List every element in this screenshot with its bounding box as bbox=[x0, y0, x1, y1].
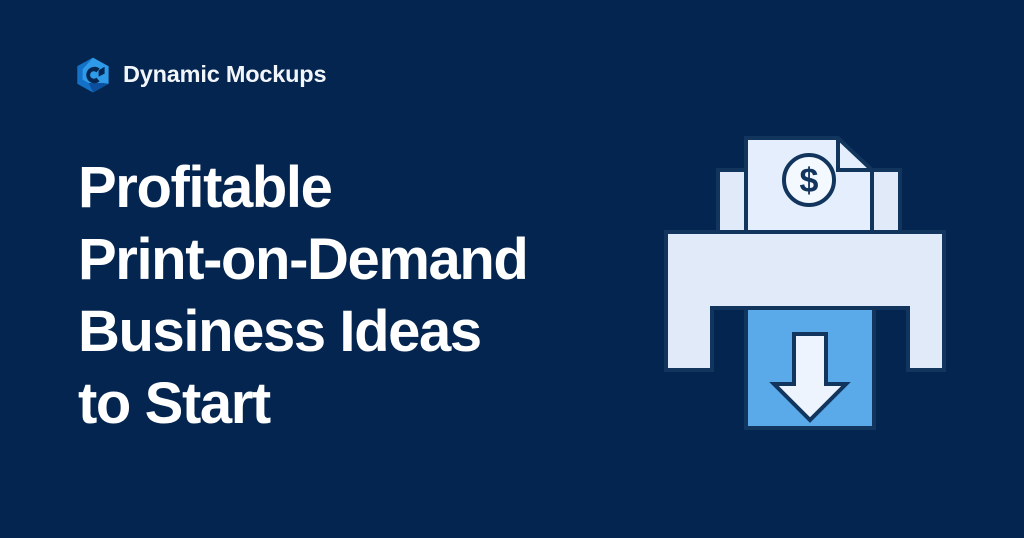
printer-top-right-tab bbox=[872, 170, 900, 232]
brand-name-label: Dynamic Mockups bbox=[123, 63, 326, 87]
money-printer-illustration: $ bbox=[650, 112, 960, 452]
dynamic-mockups-logo-icon bbox=[76, 57, 110, 93]
headline-line-1: Profitable bbox=[78, 152, 638, 224]
headline-line-4: to Start bbox=[78, 368, 638, 440]
printer-top-left-tab bbox=[718, 170, 746, 232]
dollar-sign-glyph: $ bbox=[800, 162, 819, 200]
page-title: Profitable Print-on-Demand Business Idea… bbox=[78, 152, 638, 440]
headline-line-2: Print-on-Demand bbox=[78, 224, 638, 296]
brand-logo[interactable]: Dynamic Mockups bbox=[76, 55, 326, 95]
headline-line-3: Business Ideas bbox=[78, 296, 638, 368]
promo-banner: Dynamic Mockups Profitable Print-on-Dema… bbox=[0, 0, 1024, 538]
